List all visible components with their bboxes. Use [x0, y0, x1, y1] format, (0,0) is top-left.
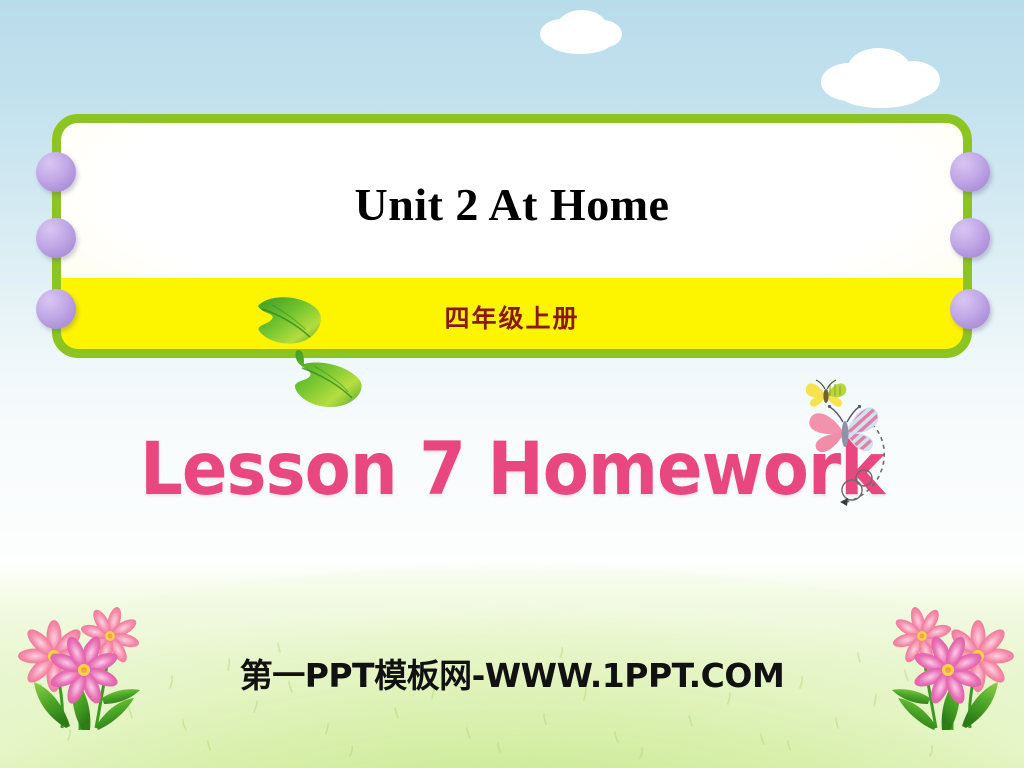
grade-label: 四年级上册	[0, 299, 1024, 335]
flower-cluster-left-icon	[10, 600, 170, 732]
flower-cluster-right-icon	[862, 600, 1022, 732]
cloud-top-center-icon	[528, 6, 632, 56]
cloud-top-right-icon	[815, 42, 955, 110]
unit-title: Unit 2 At Home	[0, 178, 1024, 231]
butterfly-large-pink-icon	[806, 393, 882, 465]
leaf-upper-icon	[248, 292, 330, 352]
presentation-slide: Unit 2 At Home 四年级上册 Lesson 7 Homework 第…	[0, 0, 1024, 768]
leaf-lower-icon	[288, 348, 370, 410]
